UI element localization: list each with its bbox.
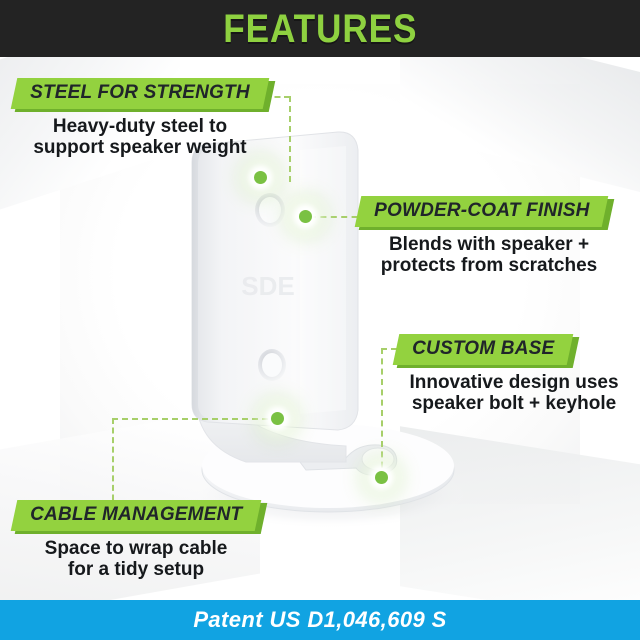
callout-description: Innovative design uses speaker bolt + ke… bbox=[396, 372, 632, 415]
callout-banner: CUSTOM BASE bbox=[396, 334, 570, 365]
callout-powder-coat-finish: POWDER-COAT FINISH Blends with speaker +… bbox=[358, 196, 620, 276]
callout-label: CABLE MANAGEMENT bbox=[30, 505, 242, 525]
feature-infographic: SDE FEATURES STEEL FOR STRENGTH Heavy-du… bbox=[0, 0, 640, 640]
callout-label: CUSTOM BASE bbox=[412, 339, 554, 359]
banner-shape: CABLE MANAGEMENT bbox=[11, 500, 262, 531]
callout-description: Heavy-duty steel to support speaker weig… bbox=[14, 116, 266, 159]
marker-custom-base bbox=[375, 471, 388, 484]
callout-steel-for-strength: STEEL FOR STRENGTH Heavy-duty steel to s… bbox=[14, 78, 266, 158]
callout-label: STEEL FOR STRENGTH bbox=[30, 83, 250, 103]
connector-custom-vertical bbox=[381, 348, 383, 478]
callout-cable-management: CABLE MANAGEMENT Space to wrap cable for… bbox=[14, 500, 258, 580]
product-image: SDE bbox=[150, 110, 530, 530]
callout-label: POWDER-COAT FINISH bbox=[374, 201, 589, 221]
marker-powder-coat-finish bbox=[299, 210, 312, 223]
banner-shape: STEEL FOR STRENGTH bbox=[11, 78, 269, 109]
callout-description: Blends with speaker + protects from scra… bbox=[358, 234, 620, 277]
marker-steel-for-strength bbox=[254, 171, 267, 184]
callout-banner: CABLE MANAGEMENT bbox=[14, 500, 258, 531]
connector-cable-vertical bbox=[112, 418, 114, 510]
page-title: FEATURES bbox=[223, 9, 417, 49]
banner-shape: CUSTOM BASE bbox=[393, 334, 574, 365]
callout-description: Space to wrap cable for a tidy setup bbox=[14, 538, 258, 581]
product-embossed-logo: SDE bbox=[241, 271, 294, 301]
banner-shape: POWDER-COAT FINISH bbox=[355, 196, 609, 227]
patent-text: Patent US D1,046,609 S bbox=[193, 607, 446, 633]
product-svg: SDE bbox=[150, 110, 530, 530]
callout-custom-base: CUSTOM BASE Innovative design uses speak… bbox=[396, 334, 632, 414]
callout-banner: POWDER-COAT FINISH bbox=[358, 196, 605, 227]
footer-bar: Patent US D1,046,609 S bbox=[0, 600, 640, 640]
connector-cable-horizontal bbox=[112, 418, 278, 420]
marker-cable-management bbox=[271, 412, 284, 425]
callout-banner: STEEL FOR STRENGTH bbox=[14, 78, 266, 109]
header-bar: FEATURES bbox=[0, 0, 640, 57]
product-keyhole-opening bbox=[362, 448, 394, 470]
connector-steel-vertical bbox=[289, 96, 291, 182]
